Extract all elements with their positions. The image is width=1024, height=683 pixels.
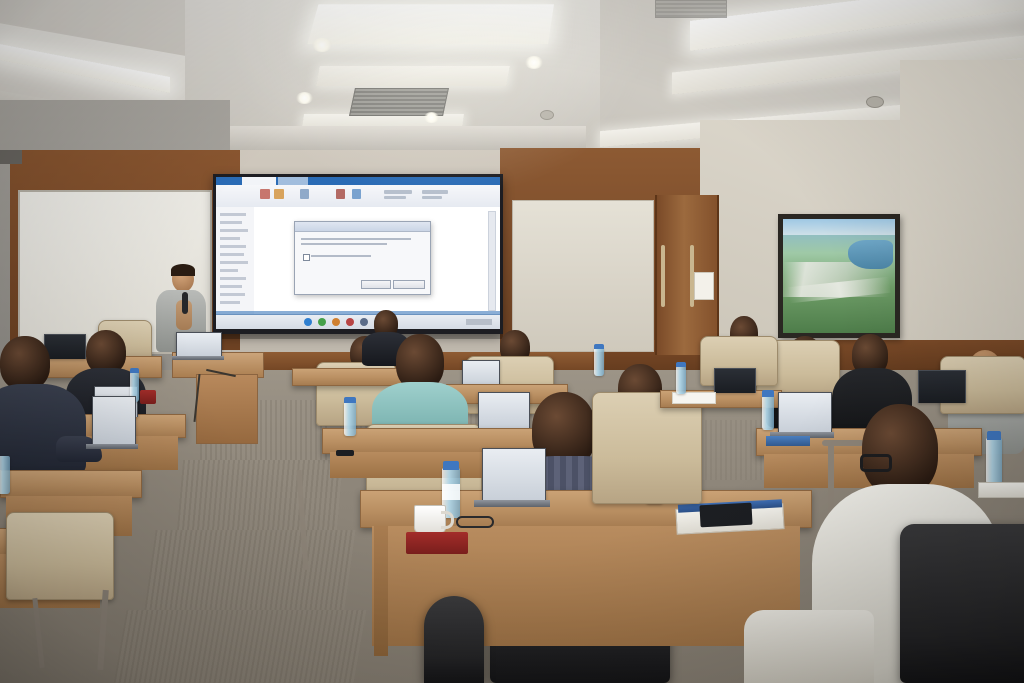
ribbon-icon-7[interactable] bbox=[384, 196, 406, 199]
chair-foreground-left-black[interactable] bbox=[424, 596, 484, 683]
carpet-tile-3 bbox=[144, 530, 355, 610]
sidebar-row[interactable] bbox=[220, 261, 248, 264]
mousepad-right-mid[interactable] bbox=[766, 436, 810, 446]
canvas-scrollbar[interactable] bbox=[488, 211, 496, 311]
laptop-left-1[interactable] bbox=[92, 396, 136, 445]
bottle-teal[interactable] bbox=[344, 402, 356, 436]
person-head-left-2 bbox=[0, 336, 50, 390]
podium-laptop-screen[interactable] bbox=[176, 332, 222, 357]
taskbar-icon-3[interactable] bbox=[332, 318, 340, 326]
chair-foreground-right[interactable] bbox=[900, 524, 1024, 683]
dialog-ok-button[interactable] bbox=[361, 280, 391, 289]
ribbon-icon-6[interactable] bbox=[384, 190, 412, 194]
ribbon-icon-8[interactable] bbox=[422, 190, 448, 194]
eyeglasses-foreground-right bbox=[860, 454, 892, 472]
downlight-1 bbox=[312, 38, 332, 52]
ribbon-icon-3[interactable] bbox=[300, 189, 309, 199]
dialog-cancel-button[interactable] bbox=[393, 280, 425, 289]
sidebar-row[interactable] bbox=[220, 301, 240, 304]
sidebar-row[interactable] bbox=[220, 277, 246, 280]
downlight-3 bbox=[296, 92, 313, 104]
chair-right-mid-armrest bbox=[822, 440, 864, 446]
sidebar-row[interactable] bbox=[220, 221, 242, 224]
taskbar-icon-5[interactable] bbox=[360, 318, 368, 326]
red-case[interactable] bbox=[406, 532, 468, 554]
podium-body bbox=[196, 374, 258, 444]
photo-scene bbox=[0, 0, 1024, 683]
bottle-right-back[interactable] bbox=[676, 366, 686, 394]
laptop-base-left-1[interactable] bbox=[86, 444, 138, 449]
laptop-right-back[interactable] bbox=[714, 368, 756, 393]
taskbar-icon-2[interactable] bbox=[318, 318, 326, 326]
bottle-right-mid[interactable] bbox=[762, 396, 774, 430]
whiteboard-rail bbox=[0, 150, 22, 164]
screen-bottom-bar bbox=[216, 311, 500, 315]
chair-right-1[interactable] bbox=[592, 392, 702, 504]
smoke-detector-1 bbox=[540, 110, 554, 120]
bottle-label-foreground-left bbox=[442, 484, 460, 500]
bottle-right-far[interactable] bbox=[986, 438, 1002, 484]
dialog-checkbox-label bbox=[311, 255, 371, 257]
person-arm-foreground-right bbox=[744, 610, 874, 683]
taskbar-icon-1[interactable] bbox=[304, 318, 312, 326]
picture-sky bbox=[783, 219, 895, 235]
door-handle[interactable] bbox=[661, 245, 665, 307]
taskbar[interactable] bbox=[216, 314, 500, 329]
carpet-tile-2 bbox=[177, 460, 343, 530]
chair-front-left[interactable] bbox=[6, 512, 114, 600]
sidebar-row[interactable] bbox=[220, 213, 246, 216]
bottle-cap-right-back bbox=[676, 362, 686, 367]
bottle-cap-right-far bbox=[987, 431, 1001, 440]
dialog-checkbox[interactable] bbox=[303, 254, 310, 261]
picture-water bbox=[848, 240, 893, 270]
bottle-front-left[interactable] bbox=[0, 456, 10, 494]
laptop-teal[interactable] bbox=[478, 392, 530, 429]
laptop-base-foreground-center[interactable] bbox=[474, 500, 550, 507]
dialog-window[interactable] bbox=[294, 221, 431, 295]
person-body-left-2 bbox=[0, 384, 86, 476]
person-head-foreground-right bbox=[862, 404, 938, 496]
ceiling-light-strip-3 bbox=[316, 66, 510, 86]
laptop-back-left[interactable] bbox=[44, 334, 86, 359]
microphone[interactable] bbox=[182, 292, 188, 314]
ribbon-icon-2[interactable] bbox=[274, 189, 284, 199]
dialog-titlebar bbox=[295, 222, 430, 232]
desk-center-back bbox=[292, 368, 404, 386]
presenter-hair bbox=[171, 264, 195, 276]
ceiling-soffit-center bbox=[196, 126, 586, 150]
ceiling-vent-3 bbox=[655, 0, 727, 18]
laptop-center-back[interactable] bbox=[462, 360, 500, 387]
ribbon-icon-1[interactable] bbox=[260, 189, 270, 199]
dialog-text-line bbox=[301, 243, 387, 245]
tablet-on-notebook[interactable] bbox=[699, 503, 752, 528]
downlight-4 bbox=[424, 112, 439, 123]
notebook-right-far[interactable] bbox=[978, 482, 1024, 498]
sidebar-row[interactable] bbox=[220, 269, 238, 272]
bottle-cap-foreground-left bbox=[443, 461, 459, 470]
desk-left-1 bbox=[0, 470, 142, 498]
carpet-tile-4 bbox=[114, 610, 367, 683]
bottle-center-back[interactable] bbox=[594, 348, 604, 376]
framed-picture bbox=[778, 214, 900, 338]
sidebar-row[interactable] bbox=[220, 237, 240, 240]
taskbar-clock bbox=[466, 319, 492, 325]
bottle-cap-left-2 bbox=[130, 368, 139, 373]
app-tab-active bbox=[242, 177, 276, 185]
laptop-right-mid[interactable] bbox=[778, 392, 832, 433]
bottle-cap-center-back bbox=[594, 344, 604, 349]
bottle-cap-right-mid bbox=[762, 390, 774, 397]
podium-laptop-base[interactable] bbox=[172, 356, 224, 360]
desk-foreground-center-leg bbox=[374, 526, 388, 656]
ribbon-icon-9[interactable] bbox=[422, 196, 442, 199]
taskbar-icon-4[interactable] bbox=[346, 318, 354, 326]
dialog-text-line bbox=[301, 238, 411, 240]
sidebar-row[interactable] bbox=[220, 245, 246, 248]
sidebar-row[interactable] bbox=[220, 293, 245, 296]
projected-desktop bbox=[216, 177, 500, 329]
laptop-right-far[interactable] bbox=[918, 370, 966, 403]
projection-screen bbox=[213, 174, 503, 334]
sidebar-row[interactable] bbox=[220, 229, 248, 232]
sidebar-row[interactable] bbox=[220, 285, 242, 288]
app-tab-2 bbox=[278, 177, 308, 185]
phone-teal-desk[interactable] bbox=[336, 450, 354, 456]
red-item-left-2[interactable] bbox=[140, 390, 156, 404]
downlight-2 bbox=[525, 56, 543, 69]
wall-panel-back-right bbox=[512, 200, 654, 352]
eyeglasses[interactable] bbox=[456, 516, 494, 528]
ribbon-icon-5[interactable] bbox=[352, 189, 361, 199]
door-sign bbox=[694, 272, 714, 300]
sidebar-row[interactable] bbox=[220, 253, 244, 256]
ribbon-icon-4[interactable] bbox=[336, 189, 345, 199]
app-sidebar[interactable] bbox=[216, 207, 255, 315]
smoke-detector-2 bbox=[866, 96, 884, 108]
laptop-foreground-center[interactable] bbox=[482, 448, 546, 501]
bottle-cap-teal bbox=[344, 397, 356, 403]
ceiling-light-strip-2 bbox=[307, 4, 554, 44]
